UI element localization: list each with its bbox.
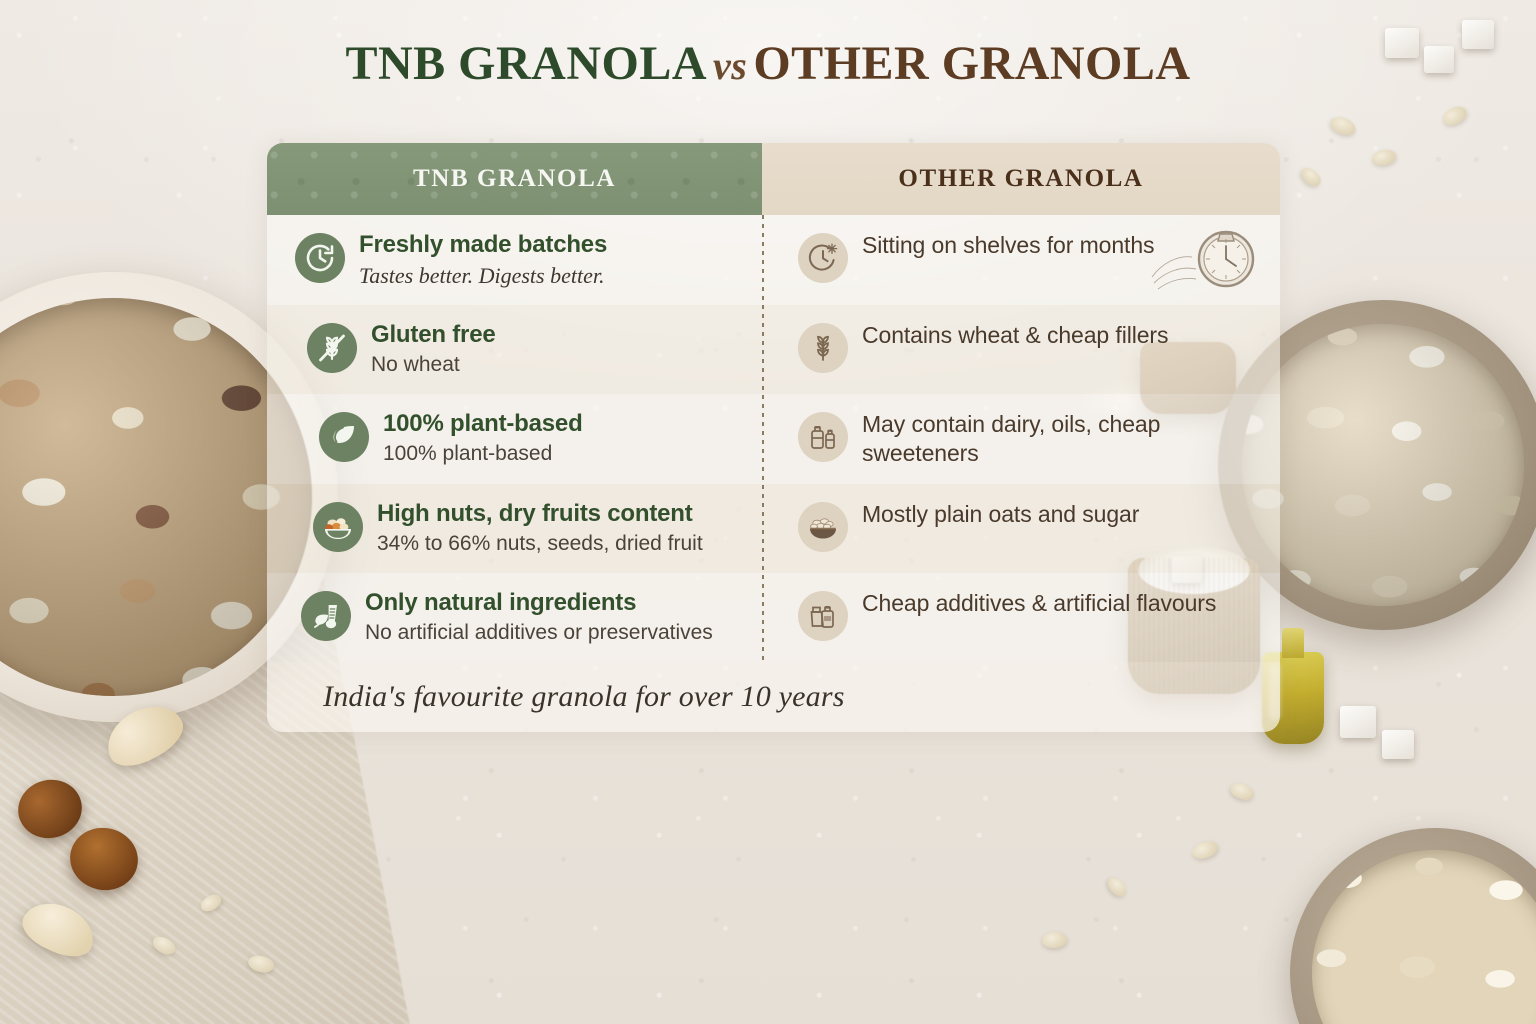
footer-tagline: India's favourite granola for over 10 ye… bbox=[323, 680, 845, 713]
table-row: Gluten free No wheat bbox=[267, 305, 1280, 394]
row-5-tnb-text: Only natural ingredients No artificial a… bbox=[365, 589, 713, 646]
table-row: Only natural ingredients No artificial a… bbox=[267, 573, 1280, 662]
wheat-stalk-icon bbox=[798, 323, 848, 373]
row-5-tnb-cell: Only natural ingredients No artificial a… bbox=[267, 573, 762, 662]
row-2-tnb-subtitle: No wheat bbox=[371, 352, 496, 378]
row-1-other-text: Sitting on shelves for months bbox=[862, 231, 1154, 260]
table-header-row: TNB GRANOLA OTHER GRANOLA bbox=[267, 143, 1280, 215]
row-2-other-cell: Contains wheat & cheap fillers bbox=[762, 305, 1280, 394]
plain-oats-2 bbox=[1312, 850, 1536, 1024]
row-1-tnb-cell: Freshly made batches Tastes better. Dige… bbox=[267, 215, 762, 305]
row-3-other-text: May contain dairy, oils, cheap sweetener… bbox=[862, 410, 1258, 468]
pocket-watch-sketch bbox=[1148, 219, 1268, 301]
row-4-other-text: Mostly plain oats and sugar bbox=[862, 500, 1139, 529]
additive-bottle-icon bbox=[798, 591, 848, 641]
row-3-other-cell: May contain dairy, oils, cheap sweetener… bbox=[762, 394, 1280, 484]
row-4-tnb-title: High nuts, dry fruits content bbox=[377, 500, 703, 528]
table-row: Freshly made batches Tastes better. Dige… bbox=[267, 215, 1280, 305]
row-3-tnb-title: 100% plant-based bbox=[383, 410, 583, 438]
natural-leaf-label-icon bbox=[301, 591, 351, 641]
leaf-icon bbox=[319, 412, 369, 462]
row-3-tnb-text: 100% plant-based 100% plant-based bbox=[383, 410, 583, 467]
row-1-tnb-subtitle: Tastes better. Digests better. bbox=[359, 262, 607, 289]
row-1-tnb-title: Freshly made batches bbox=[359, 231, 607, 259]
row-2-tnb-title: Gluten free bbox=[371, 321, 496, 349]
row-4-tnb-subtitle: 34% to 66% nuts, seeds, dried fruit bbox=[377, 531, 703, 557]
row-2-other-text: Contains wheat & cheap fillers bbox=[862, 321, 1168, 350]
row-5-tnb-title: Only natural ingredients bbox=[365, 589, 713, 617]
row-2-tnb-cell: Gluten free No wheat bbox=[267, 305, 762, 394]
title-vs: vs bbox=[707, 43, 753, 88]
row-3-tnb-cell: 100% plant-based 100% plant-based bbox=[267, 394, 762, 484]
clock-refresh-icon bbox=[295, 233, 345, 283]
table-body: Freshly made batches Tastes better. Dige… bbox=[267, 215, 1280, 662]
row-1-tnb-text: Freshly made batches Tastes better. Dige… bbox=[359, 231, 607, 289]
title-other: OTHER GRANOLA bbox=[753, 37, 1190, 90]
row-3-tnb-subtitle: 100% plant-based bbox=[383, 441, 583, 467]
table-row: High nuts, dry fruits content 34% to 66%… bbox=[267, 484, 1280, 573]
wheat-crossed-out-icon bbox=[307, 323, 357, 373]
comparison-table: TNB GRANOLA OTHER GRANOLA Freshly made b… bbox=[267, 143, 1280, 732]
title-tnb: TNB GRANOLA bbox=[345, 37, 707, 90]
bottles-icon bbox=[798, 412, 848, 462]
header-label-tnb: TNB GRANOLA bbox=[413, 165, 616, 193]
row-4-tnb-cell: High nuts, dry fruits content 34% to 66%… bbox=[267, 484, 762, 573]
header-cell-tnb: TNB GRANOLA bbox=[267, 143, 762, 215]
row-2-tnb-text: Gluten free No wheat bbox=[371, 321, 496, 378]
column-divider bbox=[762, 215, 764, 662]
page-title: TNB GRANOLAvsOTHER GRANOLA bbox=[0, 36, 1536, 91]
granola-mix bbox=[0, 298, 312, 696]
row-5-other-text: Cheap additives & artificial flavours bbox=[862, 589, 1216, 618]
table-row: 100% plant-based 100% plant-based bbox=[267, 394, 1280, 484]
bowl-of-nuts-icon bbox=[313, 502, 363, 552]
header-label-other: OTHER GRANOLA bbox=[898, 165, 1143, 193]
row-1-other-cell: Sitting on shelves for months bbox=[762, 215, 1280, 305]
row-4-other-cell: Mostly plain oats and sugar bbox=[762, 484, 1280, 573]
footer-strip: India's favourite granola for over 10 ye… bbox=[267, 662, 1280, 732]
plain-oats bbox=[1242, 324, 1524, 606]
plain-oats-bowl-photo-2 bbox=[1290, 828, 1536, 1024]
row-5-tnb-subtitle: No artificial additives or preservatives bbox=[365, 620, 713, 646]
sugar-cube bbox=[1340, 706, 1376, 738]
header-cell-other: OTHER GRANOLA bbox=[762, 143, 1280, 215]
row-5-other-cell: Cheap additives & artificial flavours bbox=[762, 573, 1280, 662]
clock-cobweb-icon bbox=[798, 233, 848, 283]
sugar-cube bbox=[1382, 730, 1414, 759]
bowl-of-oats-icon bbox=[798, 502, 848, 552]
row-4-tnb-text: High nuts, dry fruits content 34% to 66%… bbox=[377, 500, 703, 557]
